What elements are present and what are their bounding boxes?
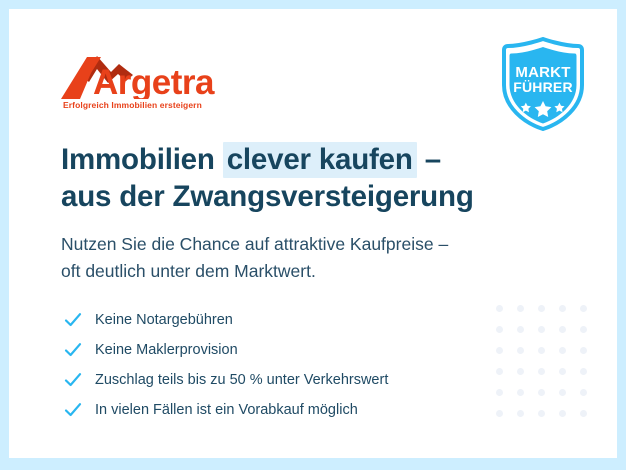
grid-dot: [538, 305, 545, 312]
subheading-line2: oft deutlich unter dem Marktwert.: [61, 258, 541, 285]
argetra-logo[interactable]: Argetra Erfolgreich Immobilien ersteiger…: [61, 53, 261, 110]
logo-mark-row: Argetra: [61, 53, 261, 99]
grid-dot: [580, 410, 587, 417]
grid-dot: [517, 326, 524, 333]
grid-dot: [580, 347, 587, 354]
grid-dot: [496, 347, 503, 354]
grid-dot: [580, 368, 587, 375]
grid-dot: [496, 305, 503, 312]
badge-line2-text: FÜHRER: [513, 79, 573, 95]
grid-dot: [517, 347, 524, 354]
grid-dot: [496, 326, 503, 333]
grid-dot: [538, 368, 545, 375]
markt-fuehrer-badge: MARKT FÜHRER: [500, 37, 586, 131]
grid-dot: [559, 410, 566, 417]
list-item: In vielen Fällen ist ein Vorabkauf mögli…: [64, 395, 494, 425]
list-item: Keine Maklerprovision: [64, 335, 494, 365]
headline-part1: Immobilien: [61, 143, 223, 176]
grid-dot: [580, 305, 587, 312]
logo-tagline: Erfolgreich Immobilien ersteigern: [63, 100, 261, 110]
dot-grid-decoration: [496, 305, 601, 431]
grid-dot: [496, 389, 503, 396]
grid-dot: [517, 389, 524, 396]
benefit-label: Keine Notargebühren: [95, 313, 233, 328]
grid-dot: [496, 368, 503, 375]
list-item: Zuschlag teils bis zu 50 % unter Verkehr…: [64, 365, 494, 395]
headline-line2: aus der Zwangsversteigerung: [61, 178, 531, 215]
grid-dot: [517, 368, 524, 375]
list-item: Keine Notargebühren: [64, 305, 494, 335]
grid-dot: [559, 326, 566, 333]
benefit-label: Zuschlag teils bis zu 50 % unter Verkehr…: [95, 373, 388, 388]
benefits-list: Keine Notargebühren Keine Maklerprovisio…: [64, 305, 494, 425]
grid-dot: [538, 347, 545, 354]
benefit-label: Keine Maklerprovision: [95, 343, 238, 358]
grid-dot: [538, 389, 545, 396]
svg-text:Argetra: Argetra: [93, 63, 215, 99]
grid-dot: [580, 389, 587, 396]
check-icon: [64, 371, 82, 389]
grid-dot: [559, 368, 566, 375]
check-icon: [64, 311, 82, 329]
argetra-logotype-icon: Argetra: [61, 53, 261, 99]
grid-dot: [517, 305, 524, 312]
benefit-label: In vielen Fällen ist ein Vorabkauf mögli…: [95, 403, 358, 418]
headline-part2: –: [417, 143, 441, 176]
grid-dot: [538, 326, 545, 333]
shield-badge-icon: MARKT FÜHRER: [500, 37, 586, 131]
grid-dot: [580, 326, 587, 333]
grid-dot: [559, 389, 566, 396]
grid-dot: [517, 410, 524, 417]
headline-highlight: clever kaufen: [223, 142, 417, 178]
subheading: Nutzen Sie die Chance auf attraktive Kau…: [61, 231, 541, 284]
check-icon: [64, 401, 82, 419]
grid-dot: [559, 305, 566, 312]
grid-dot: [559, 347, 566, 354]
grid-dot: [538, 410, 545, 417]
grid-dot: [496, 410, 503, 417]
subheading-line1: Nutzen Sie die Chance auf attraktive Kau…: [61, 231, 541, 258]
advertisement-card: Argetra Erfolgreich Immobilien ersteiger…: [9, 9, 617, 458]
check-icon: [64, 341, 82, 359]
headline: Immobilien clever kaufen – aus der Zwang…: [61, 141, 531, 216]
